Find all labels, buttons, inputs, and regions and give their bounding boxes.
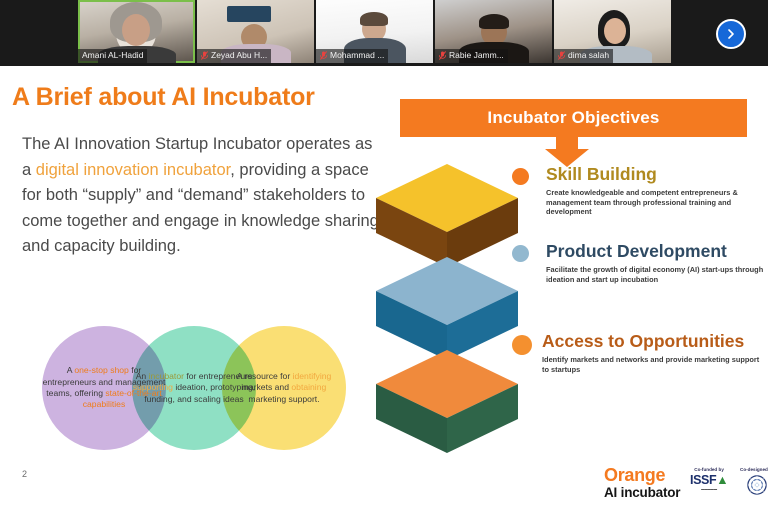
brand-name: Orange: [604, 466, 680, 485]
cube-orange-green: [372, 348, 512, 458]
mic-muted-icon: [558, 51, 565, 60]
participant-name: Mohammad ...: [330, 50, 384, 61]
participant-name-label: Rabie Jamm...: [435, 49, 508, 63]
participant-tiles: Amani AL-Hadid Zeyad Abu H... Mohammad .…: [78, 0, 673, 63]
banner-arrow-stem: [556, 137, 578, 149]
participant-tile[interactable]: Amani AL-Hadid: [78, 0, 195, 63]
next-page-button[interactable]: [716, 19, 746, 49]
zoom-participant-strip: Amani AL-Hadid Zeyad Abu H... Mohammad .…: [0, 0, 768, 66]
participant-name: Zeyad Abu H...: [211, 50, 267, 61]
presentation-slide: A Brief about AI Incubator The AI Innova…: [0, 66, 768, 506]
body-text-highlight: digital innovation incubator: [36, 161, 230, 179]
objective-bullet-icon: [512, 245, 529, 262]
objective-title: Product Development: [546, 241, 768, 262]
objective-title: Access to Opportunities: [542, 331, 768, 352]
participant-name: dima salah: [568, 50, 609, 61]
venn-text-segment: incubator: [149, 371, 184, 381]
mic-muted-icon: [439, 51, 446, 60]
issf-sublabel: ▬▬▬▬▬: [690, 487, 728, 491]
venn-text-segment: An: [136, 371, 149, 381]
objective-product-development: Product Development Facilitate the growt…: [512, 241, 768, 284]
venn-text-segment: markets and: [242, 382, 292, 392]
chevron-right-icon: [725, 28, 737, 40]
venn-text-segment: marketing support.: [248, 394, 319, 404]
footer-logos: Orange AI incubator Co-funded by ISSF▲ ▬…: [604, 466, 764, 506]
cube-stack-graphic: [372, 162, 532, 462]
venn-text-yellow: A resource for identifying markets and o…: [222, 326, 346, 450]
participant-name: Rabie Jamm...: [449, 50, 504, 61]
participant-tile[interactable]: dima salah: [554, 0, 671, 63]
objective-description: Create knowledgeable and competent entre…: [546, 188, 768, 217]
objective-access-to-opportunities: Access to Opportunities Identify markets…: [512, 331, 768, 374]
objective-title: Skill Building: [546, 164, 768, 185]
slide-body-text: The AI Innovation Startup Incubator oper…: [22, 132, 382, 260]
issf-logo: ISSF▲: [690, 473, 728, 487]
page-number: 2: [22, 469, 27, 479]
objective-bullet-icon: [512, 335, 532, 355]
mic-muted-icon: [201, 51, 208, 60]
venn-text-segment: supporting: [133, 382, 173, 392]
participant-tile[interactable]: Zeyad Abu H...: [197, 0, 314, 63]
page-title: A Brief about AI Incubator: [12, 83, 315, 112]
participant-name-label: Amani AL-Hadid: [78, 49, 147, 63]
objective-description: Identify markets and networks and provid…: [542, 355, 768, 374]
objective-skill-building: Skill Building Create knowledgeable and …: [512, 164, 768, 217]
partner-caption: Co-designed by: [740, 467, 768, 473]
participant-tile[interactable]: Mohammad ...: [316, 0, 433, 63]
participant-name-label: dima salah: [554, 49, 613, 63]
partner-codesigner: Co-designed by: [740, 467, 768, 500]
venn-text-segment: A resource for: [237, 371, 293, 381]
participant-tile[interactable]: Rabie Jamm...: [435, 0, 552, 63]
venn-text-segment: obtaining: [291, 382, 326, 392]
venn-diagram: A one-stop shop for entrepreneurs and ma…: [42, 321, 372, 456]
venn-text-segment: one-stop shop: [74, 365, 128, 375]
brand-subtitle: AI incubator: [604, 485, 680, 500]
objectives-banner: Incubator Objectives: [400, 99, 747, 137]
objective-bullet-icon: [512, 168, 529, 185]
partner-issf: Co-funded by ISSF▲ ▬▬▬▬▬: [690, 467, 728, 491]
issf-name: ISSF: [690, 473, 716, 487]
strip-left-padding: [0, 0, 78, 66]
orange-ai-incubator-logo: Orange AI incubator: [604, 466, 680, 500]
venn-text-segment: identifying: [293, 371, 332, 381]
mic-muted-icon: [320, 51, 327, 60]
participant-name: Amani AL-Hadid: [82, 50, 143, 61]
participant-name-label: Zeyad Abu H...: [197, 49, 271, 63]
globe-logo: [747, 475, 767, 495]
participant-name-label: Mohammad ...: [316, 49, 388, 63]
objective-description: Facilitate the growth of digital economy…: [546, 265, 768, 284]
